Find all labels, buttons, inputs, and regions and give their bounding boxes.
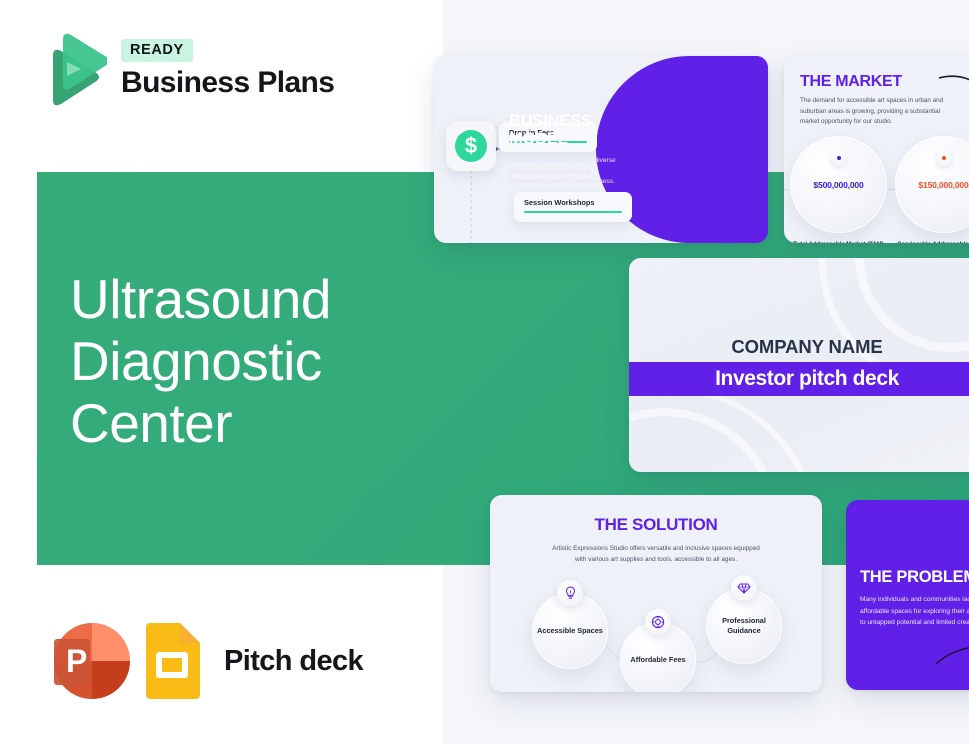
revenue-stream-item[interactable]: Session Workshops	[514, 192, 632, 222]
metric-value: $150,000,000	[918, 180, 968, 190]
metric-disc: $150,000,000	[895, 136, 969, 233]
company-subtitle-band: Investor pitch deck	[629, 362, 969, 396]
brand-text-block: READY Business Plans	[121, 39, 334, 100]
diamond-icon	[731, 575, 757, 601]
market-metric[interactable]: $150,000,000 Serviceable Addressable Mar…	[895, 136, 969, 243]
slide-the-problem[interactable]: THE PROBLEM Many individuals and communi…	[846, 500, 969, 690]
swoosh-decoration	[934, 640, 969, 675]
solution-node[interactable]: Accessible Spaces	[532, 593, 608, 669]
powerpoint-icon: P	[40, 617, 134, 705]
slide-the-solution[interactable]: THE SOLUTION Artistic Expressions Studio…	[490, 495, 822, 692]
company-name-heading: COMPANY NAME	[629, 336, 969, 358]
dollar-glyph: $	[455, 130, 487, 162]
slide-company-name[interactable]: COMPANY NAME Investor pitch deck	[629, 258, 969, 472]
footer-formats: P Pitch deck	[40, 617, 363, 705]
play-triangles-logo	[37, 30, 107, 108]
revenue-stream-label: Session Workshops	[524, 198, 622, 207]
ready-badge: READY	[121, 39, 193, 62]
problem-title: THE PROBLEM	[860, 568, 969, 587]
page-title: Ultrasound Diagnostic Center	[70, 268, 470, 454]
brand-title: Business Plans	[121, 66, 334, 100]
google-slides-icon	[140, 623, 204, 699]
problem-body: Many individuals and communities lack ac…	[860, 594, 969, 629]
solution-node[interactable]: Professional Guidance	[706, 588, 782, 664]
coin-target-icon	[645, 609, 671, 635]
screenshot-canvas: READY Business Plans Ultrasound Diagnost…	[0, 0, 969, 744]
solution-node[interactable]: Affordable Fees	[620, 622, 696, 692]
footer-label: Pitch deck	[224, 645, 363, 678]
business-model-title: BUSINESS MODEL	[509, 112, 627, 149]
metric-dot-icon	[936, 150, 952, 166]
market-title: THE MARKET	[800, 73, 902, 91]
metric-dot-icon	[831, 150, 847, 166]
lightbulb-icon	[557, 580, 583, 606]
svg-text:P: P	[66, 643, 87, 679]
slide-the-market[interactable]: THE MARKET The demand for accessible art…	[784, 56, 969, 243]
brand-header: READY Business Plans	[37, 30, 334, 108]
solution-node-label: Professional Guidance	[706, 616, 782, 637]
market-body: The demand for accessible art spaces in …	[800, 96, 954, 128]
company-subtitle: Investor pitch deck	[715, 367, 899, 391]
metric-caption: Total Addressable Market (TAM)	[790, 241, 887, 243]
slide-business-model[interactable]: BUSINESS MODEL Revenue generation throug…	[434, 56, 768, 243]
metric-caption: Serviceable Addressable Market (SAM)	[895, 241, 969, 243]
curved-arrow-icon	[937, 74, 969, 121]
metric-value: $500,000,000	[813, 180, 863, 190]
dollar-icon: $	[446, 121, 496, 171]
market-metric[interactable]: $500,000,000 Total Addressable Market (T…	[790, 136, 887, 243]
solution-node-label: Accessible Spaces	[537, 626, 603, 636]
market-metrics-group: $500,000,000 Total Addressable Market (T…	[790, 136, 969, 243]
underline-accent	[524, 211, 622, 213]
business-model-body: Revenue generation through diverse strea…	[509, 156, 621, 188]
solution-node-label: Affordable Fees	[630, 655, 685, 665]
